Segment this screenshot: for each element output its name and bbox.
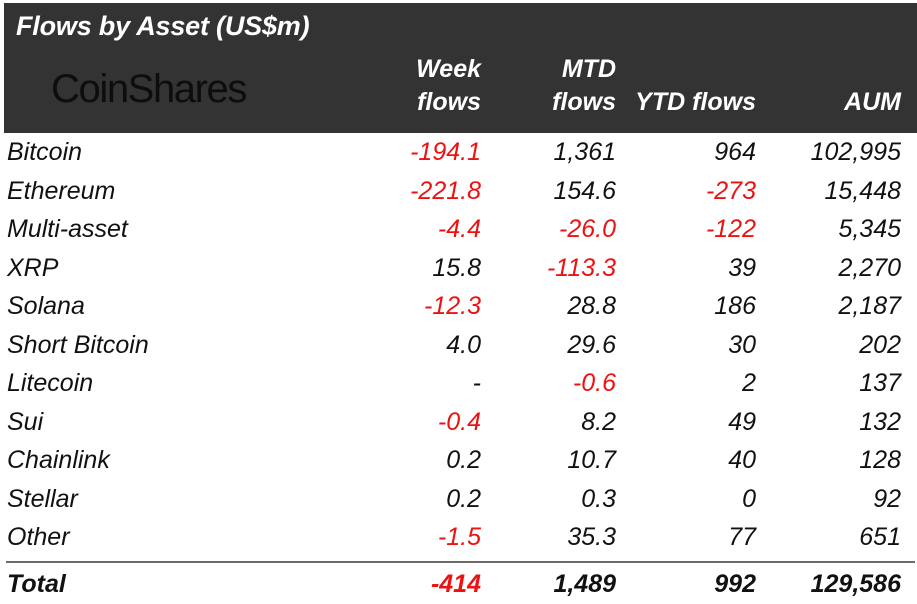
cell-ytd: 77 — [728, 518, 756, 557]
cell-aum: 651 — [859, 518, 901, 557]
cell-week: -1.5 — [438, 518, 481, 557]
cell-mtd: -113.3 — [547, 249, 616, 288]
cell-aum: 5,345 — [838, 210, 901, 249]
total-cell-mtd: 1,489 — [553, 565, 616, 604]
cell-ytd: 30 — [728, 326, 756, 365]
row-label: Chainlink — [7, 441, 110, 480]
cell-week: -4.4 — [438, 210, 481, 249]
column-header-ytd: YTD flows — [635, 53, 756, 119]
table-header-block: Flows by Asset (US$m) CoinShares Weekflo… — [4, 3, 917, 133]
cell-week: 0.2 — [446, 480, 481, 519]
row-label: Ethereum — [7, 172, 115, 211]
cell-aum: 137 — [859, 364, 901, 403]
table-row: Multi-asset-4.4-26.0-1225,345 — [4, 210, 917, 249]
cell-week: 4.0 — [446, 326, 481, 365]
column-header-line1: Week — [416, 53, 481, 86]
table-row: XRP15.8-113.3392,270 — [4, 249, 917, 288]
column-header-line2: YTD flows — [635, 86, 756, 119]
column-header-line2: AUM — [844, 86, 901, 119]
cell-mtd: 8.2 — [581, 403, 616, 442]
cell-aum: 15,448 — [825, 172, 901, 211]
table-row: Stellar0.20.3092 — [4, 480, 917, 519]
cell-mtd: -26.0 — [559, 210, 616, 249]
cell-mtd: 35.3 — [567, 518, 616, 557]
cell-ytd: 186 — [714, 287, 756, 326]
cell-aum: 132 — [859, 403, 901, 442]
cell-week: 0.2 — [446, 441, 481, 480]
flows-by-asset-table: Flows by Asset (US$m) CoinShares Weekflo… — [0, 0, 917, 604]
table-row: Chainlink0.210.740128 — [4, 441, 917, 480]
table-row: Ethereum-221.8154.6-27315,448 — [4, 172, 917, 211]
cell-week: -221.8 — [410, 172, 481, 211]
cell-mtd: 0.3 — [581, 480, 616, 519]
column-header-aum: AUM — [844, 53, 901, 119]
table-body: Bitcoin-194.11,361964102,995Ethereum-221… — [4, 133, 917, 604]
row-label: Sui — [7, 403, 43, 442]
cell-week: -194.1 — [410, 133, 481, 172]
row-label: Other — [7, 518, 70, 557]
total-cell-week: -414 — [431, 565, 481, 604]
column-header-line1 — [635, 53, 756, 86]
cell-mtd: 1,361 — [553, 133, 616, 172]
cell-ytd: 2 — [742, 364, 756, 403]
cell-ytd: -122 — [706, 210, 756, 249]
row-label-total: Total — [7, 565, 66, 604]
total-separator-rule — [6, 561, 915, 563]
row-label: Multi-asset — [7, 210, 128, 249]
column-header-mtd: MTDflows — [552, 53, 616, 119]
cell-mtd: 29.6 — [567, 326, 616, 365]
row-label: Short Bitcoin — [7, 326, 149, 365]
cell-aum: 2,187 — [838, 287, 901, 326]
cell-mtd: 154.6 — [553, 172, 616, 211]
column-header-line1: MTD — [552, 53, 616, 86]
table-row: Litecoin--0.62137 — [4, 364, 917, 403]
row-label: Bitcoin — [7, 133, 82, 172]
column-header-line2: flows — [552, 86, 616, 119]
coinshares-logo: CoinShares — [51, 69, 246, 109]
cell-mtd: -0.6 — [573, 364, 616, 403]
cell-ytd: 40 — [728, 441, 756, 480]
cell-mtd: 28.8 — [567, 287, 616, 326]
cell-aum: 202 — [859, 326, 901, 365]
cell-ytd: 0 — [742, 480, 756, 519]
row-label: Stellar — [7, 480, 78, 519]
row-label: Solana — [7, 287, 85, 326]
row-label: Litecoin — [7, 364, 93, 403]
cell-week: 15.8 — [432, 249, 481, 288]
table-row: Sui-0.48.249132 — [4, 403, 917, 442]
column-header-week: Weekflows — [416, 53, 481, 119]
cell-ytd: 49 — [728, 403, 756, 442]
total-cell-ytd: 992 — [714, 565, 756, 604]
cell-aum: 128 — [859, 441, 901, 480]
table-row: Short Bitcoin4.029.630202 — [4, 326, 917, 365]
column-header-line2: flows — [416, 86, 481, 119]
table-row: Other-1.535.377651 — [4, 518, 917, 557]
row-label: XRP — [7, 249, 58, 288]
cell-ytd: -273 — [706, 172, 756, 211]
total-cell-aum: 129,586 — [811, 565, 901, 604]
cell-week: - — [473, 364, 481, 403]
cell-aum: 92 — [873, 480, 901, 519]
page-title: Flows by Asset (US$m) — [16, 11, 309, 42]
cell-ytd: 39 — [728, 249, 756, 288]
table-row: Bitcoin-194.11,361964102,995 — [4, 133, 917, 172]
cell-ytd: 964 — [714, 133, 756, 172]
table-row-total: Total-4141,489992129,586 — [4, 565, 917, 604]
cell-aum: 2,270 — [838, 249, 901, 288]
table-row: Solana-12.328.81862,187 — [4, 287, 917, 326]
cell-aum: 102,995 — [811, 133, 901, 172]
cell-mtd: 10.7 — [567, 441, 616, 480]
cell-week: -12.3 — [424, 287, 481, 326]
cell-week: -0.4 — [438, 403, 481, 442]
column-header-line1 — [844, 53, 901, 86]
